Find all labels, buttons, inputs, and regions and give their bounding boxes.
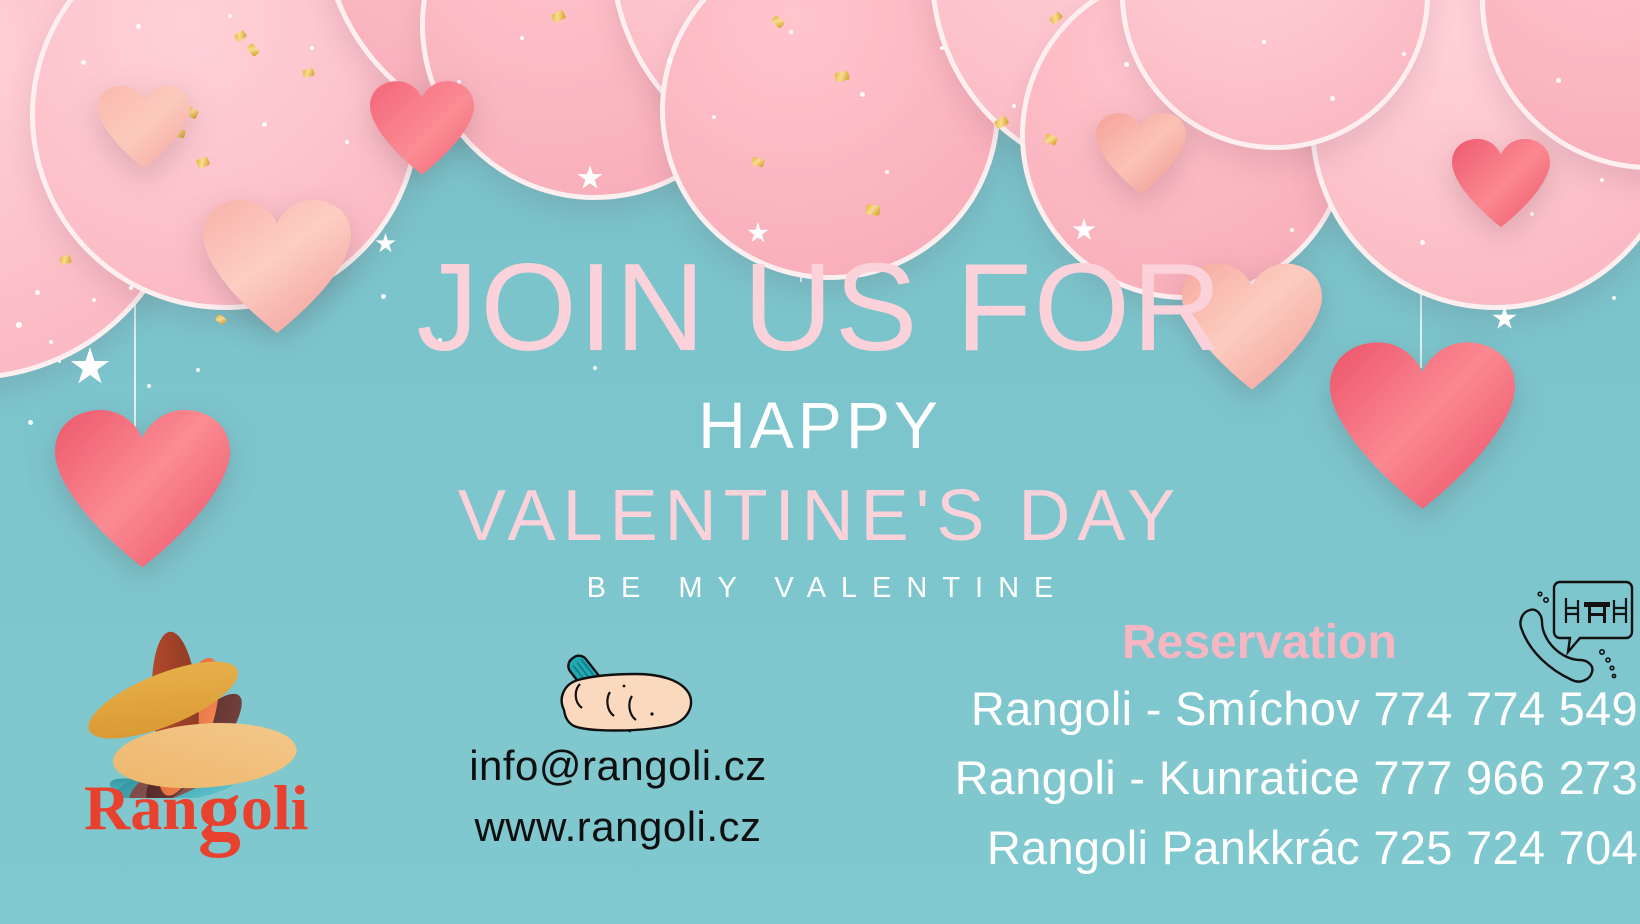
- contact-email[interactable]: info@rangoli.cz: [408, 736, 828, 797]
- sparkle-dot: [667, 58, 672, 63]
- sparkle-dot: [438, 338, 442, 342]
- sparkle-dot: [1012, 104, 1016, 108]
- reservation-entry[interactable]: Rangoli - Kunratice 777 966 273: [880, 743, 1640, 812]
- sparkle-dot: [520, 36, 524, 40]
- sparkle-dot: [49, 340, 53, 344]
- sparkle-dot: [1262, 40, 1266, 44]
- hanging-heart: [370, 80, 474, 178]
- sparkle-dot: [28, 420, 33, 425]
- sparkle-dot: [81, 60, 86, 65]
- sparkle-dot: [92, 298, 96, 302]
- hanging-heart: [1452, 138, 1550, 230]
- sparkle-dot: [860, 92, 865, 97]
- reservation-entries: Rangoli - Smíchov 774 774 549 Rangoli - …: [880, 674, 1640, 881]
- sparkle-dot: [345, 140, 349, 144]
- contact-block: info@rangoli.cz www.rangoli.cz: [408, 640, 828, 858]
- sparkle-dot: [1402, 52, 1406, 56]
- sparkle-dot: [228, 14, 232, 18]
- contact-website[interactable]: www.rangoli.cz: [408, 797, 828, 858]
- sparkle-dot: [1290, 228, 1294, 232]
- logo-wordmark: Rangoli: [84, 776, 308, 840]
- sparkle-dot: [58, 360, 61, 363]
- sparkle-dot: [381, 294, 386, 299]
- valentines-banner: JOIN US FOR HAPPY VALENTINE'S DAY BE MY …: [0, 0, 1640, 924]
- sparkle-dot: [1124, 62, 1129, 67]
- sparkle-dot: [593, 366, 597, 370]
- hanging-heart: [98, 85, 190, 171]
- logo-word-g: g: [198, 762, 241, 858]
- gold-confetti: [865, 204, 880, 216]
- logo-word-suffix: oli: [241, 772, 309, 843]
- sparkle-dot: [129, 286, 133, 290]
- sparkle-dot: [136, 24, 141, 29]
- phone-with-table-bubble-icon: [1516, 578, 1634, 690]
- sparkle-dot: [310, 46, 314, 50]
- hanging-heart: [1096, 112, 1186, 197]
- sparkle-dot: [1556, 78, 1561, 83]
- sparkle-dot: [16, 322, 22, 328]
- reservation-entry[interactable]: Rangoli Pankkrác 725 724 704: [880, 813, 1640, 882]
- sparkle-dot: [262, 122, 267, 127]
- sparkle-dot: [1420, 240, 1425, 245]
- sparkle-dot: [196, 368, 200, 372]
- sparkle-dot: [1330, 96, 1335, 101]
- sparkle-dot: [1600, 178, 1604, 182]
- hand-with-pencil-icon: [528, 640, 708, 736]
- hanging-heart: [1330, 340, 1515, 515]
- hanging-heart: [1182, 262, 1322, 394]
- sparkle-dot: [35, 290, 40, 295]
- sparkle-dot: [1612, 296, 1616, 300]
- hanging-heart: [203, 198, 351, 338]
- sparkle-dot: [147, 384, 151, 388]
- hanging-heart: [55, 408, 230, 573]
- sparkle-dot: [789, 30, 793, 34]
- sparkle-dot: [712, 115, 716, 119]
- reservation-block: Reservation Rangoli - Smíchov 774 774 54…: [880, 618, 1640, 882]
- sparkle-dot: [885, 170, 889, 174]
- rangoli-logo[interactable]: Rangoli: [22, 628, 312, 858]
- sparkle-dot: [940, 46, 944, 50]
- logo-word-prefix: Ran: [84, 772, 198, 843]
